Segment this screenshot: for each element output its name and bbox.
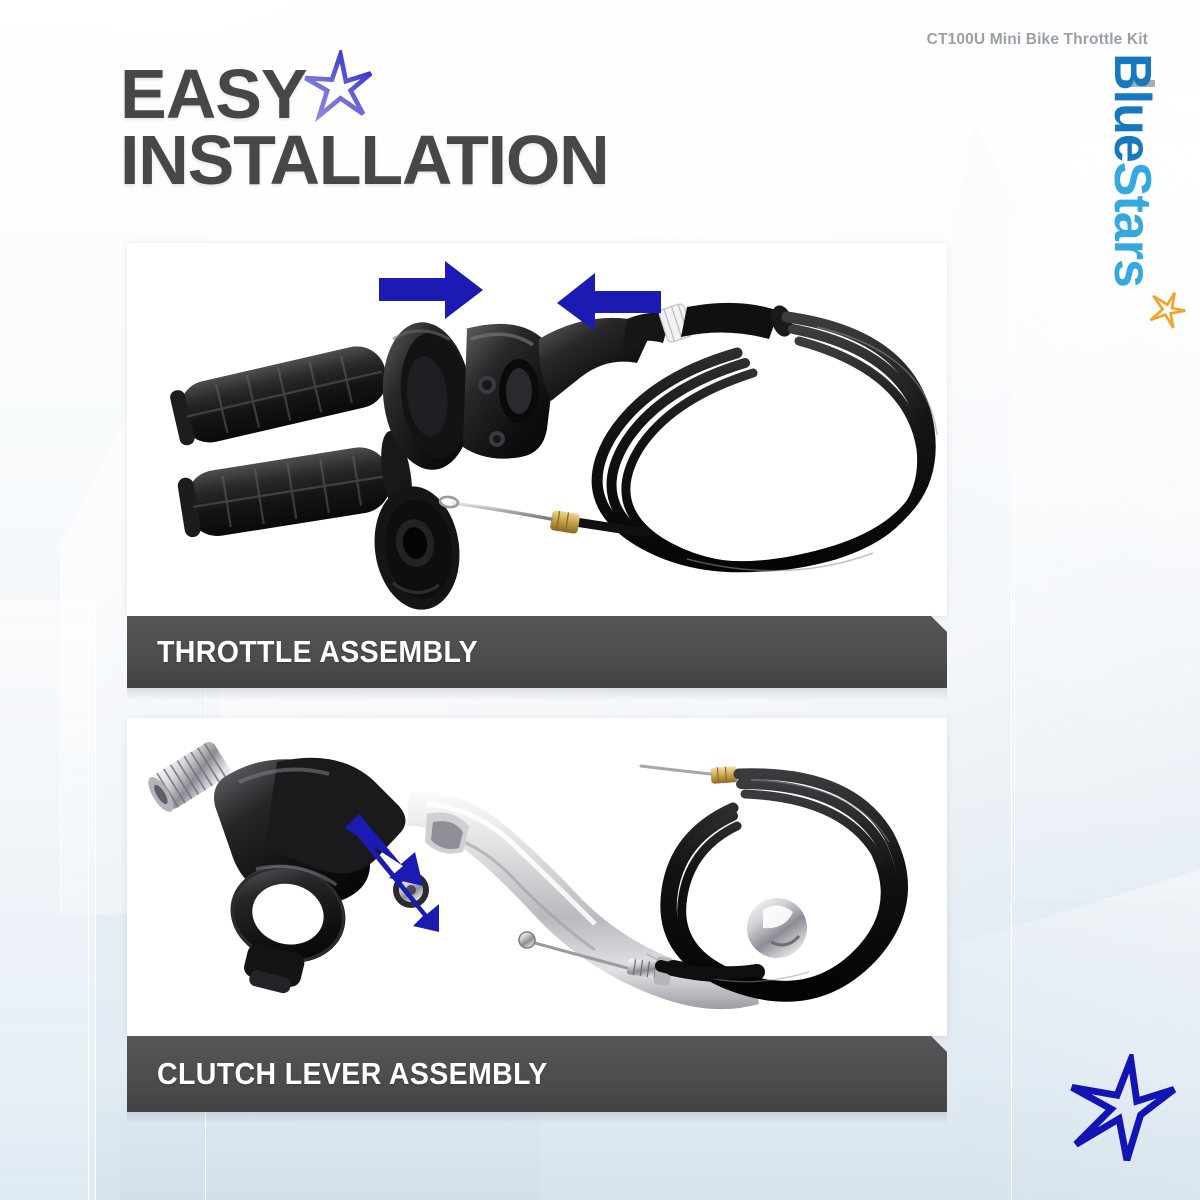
star-icon [296, 50, 374, 128]
clutch-label-shadow [127, 1112, 947, 1124]
throttle-assembly-photo [127, 243, 947, 616]
brand-name-secondary: Stars [1102, 162, 1162, 287]
throttle-photo-card [127, 243, 947, 616]
background-hairline-right [1011, 150, 1012, 1200]
page-title: EASY INSTALLATION [120, 62, 760, 194]
clutch-lever-assembly-photo [127, 718, 947, 1036]
clutch-photo-card [127, 718, 947, 1036]
page-title-line-1: EASY [120, 62, 760, 128]
clutch-label-bar: CLUTCH LEVER ASSEMBLY [127, 1036, 947, 1112]
background-hairline-left-2 [88, 600, 89, 1200]
page-title-line-2: INSTALLATION [120, 128, 760, 194]
brand-name-primary: Blue [1102, 53, 1162, 162]
throttle-label-bar: THROTTLE ASSEMBLY [127, 616, 947, 688]
blue-star-logo [1068, 1054, 1176, 1166]
infographic-canvas: CT100U Mini Bike Throttle Kit EASY INSTA… [0, 0, 1200, 1200]
product-sku-label: CT100U Mini Bike Throttle Kit [927, 31, 1148, 49]
spark-star-icon [1148, 290, 1188, 330]
clutch-label-text: CLUTCH LEVER ASSEMBLY [157, 1056, 548, 1092]
throttle-label-text: THROTTLE ASSEMBLY [157, 634, 478, 670]
throttle-label-shadow [127, 688, 947, 700]
